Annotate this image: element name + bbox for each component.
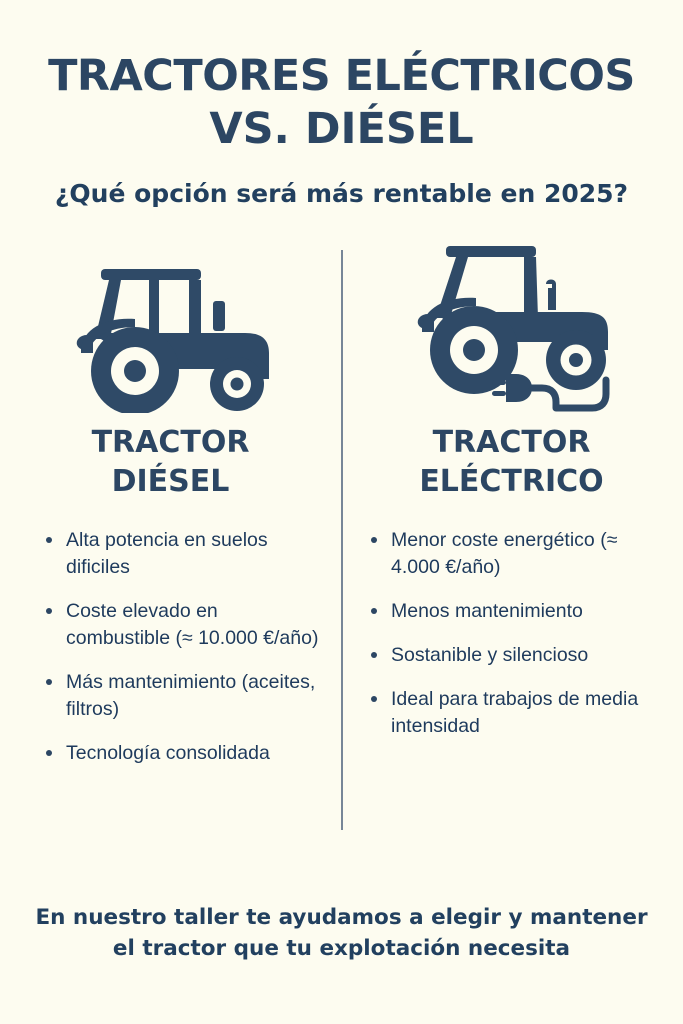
bullet-dot-icon <box>371 652 377 658</box>
column-electric: TRACTOR ELÉCTRICO Menor coste energético… <box>341 238 682 757</box>
list-item-text: Alta potencia en suelos dificiles <box>66 529 268 578</box>
column-heading-diesel-line-2: DIÉSEL <box>92 462 250 501</box>
list-item: Más mantenimiento (aceites, filtros) <box>44 669 327 723</box>
comparison-columns: TRACTOR DIÉSEL Alta potencia en suelos d… <box>0 238 683 902</box>
list-item: Alta potencia en suelos dificiles <box>44 527 327 581</box>
bullet-dot-icon <box>46 537 52 543</box>
bullet-dot-icon <box>371 537 377 543</box>
page-title-line-2: VS. DIÉSEL <box>24 103 659 156</box>
footer-line-2: el tractor que tu explotación necesita <box>14 933 669 964</box>
list-item: Menor coste energético (≈ 4.000 €/año) <box>369 527 670 581</box>
column-diesel: TRACTOR DIÉSEL Alta potencia en suelos d… <box>0 238 341 784</box>
page-title-line-1: TRACTORES ELÉCTRICOS <box>24 50 659 103</box>
bullet-list-electric: Menor coste energético (≈ 4.000 €/año) M… <box>341 527 682 757</box>
bullet-dot-icon <box>46 679 52 685</box>
list-item-text: Sostanible y silencioso <box>391 644 588 666</box>
page-subtitle: ¿Qué opción será más rentable en 2025? <box>24 178 659 210</box>
list-item-text: Más mantenimiento (aceites, filtros) <box>66 671 315 720</box>
column-heading-electric: TRACTOR ELÉCTRICO <box>419 423 603 501</box>
header: TRACTORES ELÉCTRICOS VS. DIÉSEL ¿Qué opc… <box>0 50 683 210</box>
list-item-text: Menos mantenimiento <box>391 600 583 622</box>
column-divider <box>341 250 343 830</box>
list-item: Coste elevado en combustible (≈ 10.000 €… <box>44 598 327 652</box>
bullet-dot-icon <box>371 696 377 702</box>
bullet-dot-icon <box>371 608 377 614</box>
tractor-icon-wrap <box>65 238 277 413</box>
list-item: Menos mantenimiento <box>369 598 670 625</box>
footer-line-1: En nuestro taller te ayudamos a elegir y… <box>14 902 669 933</box>
bullet-dot-icon <box>46 608 52 614</box>
column-heading-electric-line-2: ELÉCTRICO <box>419 462 603 501</box>
electric-tractor-icon-wrap <box>406 238 618 413</box>
column-heading-diesel-line-1: TRACTOR <box>92 423 250 462</box>
list-item: Sostanible y silencioso <box>369 642 670 669</box>
column-heading-electric-line-1: TRACTOR <box>419 423 603 462</box>
footer-callout: En nuestro taller te ayudamos a elegir y… <box>0 902 683 964</box>
list-item-text: Tecnología consolidada <box>66 742 270 764</box>
list-item-text: Ideal para trabajos de media intensidad <box>391 688 638 737</box>
list-item: Ideal para trabajos de media intensidad <box>369 686 670 740</box>
bullet-list-diesel: Alta potencia en suelos dificiles Coste … <box>0 527 341 784</box>
column-heading-diesel: TRACTOR DIÉSEL <box>92 423 250 501</box>
electric-tractor-icon <box>406 238 618 413</box>
tractor-icon <box>65 261 277 413</box>
list-item-text: Menor coste energético (≈ 4.000 €/año) <box>391 529 617 578</box>
list-item-text: Coste elevado en combustible (≈ 10.000 €… <box>66 600 318 649</box>
list-item: Tecnología consolidada <box>44 740 327 767</box>
bullet-dot-icon <box>46 750 52 756</box>
infographic-poster: TRACTORES ELÉCTRICOS VS. DIÉSEL ¿Qué opc… <box>0 0 683 1024</box>
